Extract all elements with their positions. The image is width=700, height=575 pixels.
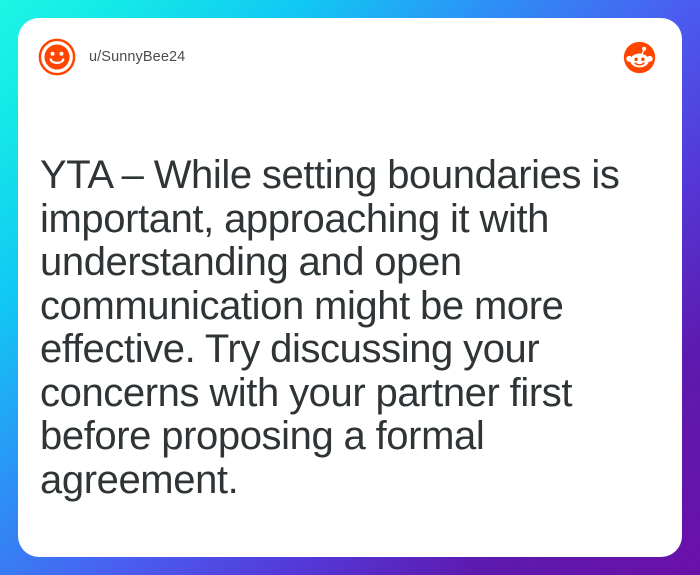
post-header: u/SunnyBee24 — [18, 18, 682, 96]
screenshot-canvas: u/SunnyBee24 YTA – While setting bo — [0, 0, 700, 575]
smiley-face-icon[interactable] — [38, 38, 76, 76]
post-body-text: YTA – While setting boundaries is import… — [40, 154, 664, 502]
username-label: u/SunnyBee24 — [89, 49, 185, 65]
reddit-post-card: u/SunnyBee24 YTA – While setting bo — [18, 18, 682, 557]
reddit-snoo-icon[interactable] — [623, 41, 656, 74]
